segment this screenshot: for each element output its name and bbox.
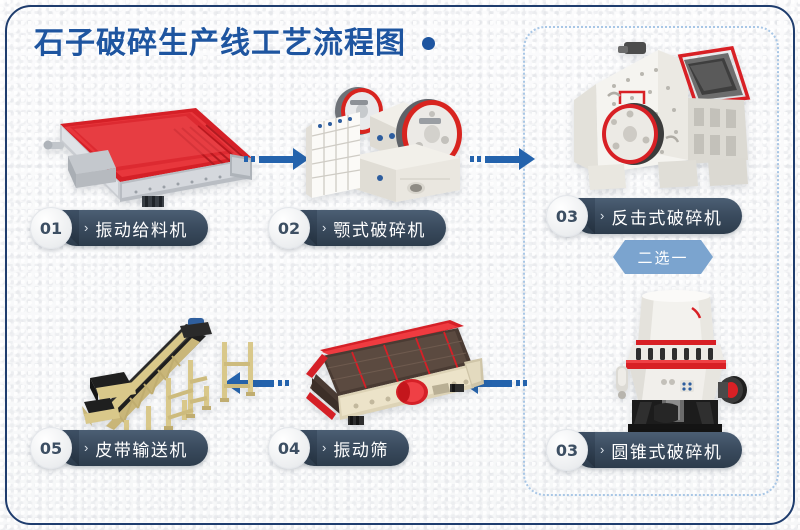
step-number-04: 04 (268, 427, 310, 469)
step-number-03-impact: 03 (546, 195, 588, 237)
arrow-feeder-to-jaw (244, 148, 309, 170)
step-name-cone-crusher: 圆锥式破碎机 (611, 438, 722, 463)
chevron-right-icon: › (600, 209, 604, 222)
step-label-vibrating-feeder: › 振动给料机 (58, 210, 208, 246)
step-name-vibrating-feeder: 振动给料机 (95, 216, 188, 241)
cone-crusher-image (592, 282, 762, 439)
step-badge-cone-crusher[interactable]: 03 › 圆锥式破碎机 (546, 430, 742, 470)
chevron-right-icon: › (84, 441, 88, 454)
step-number-01: 01 (30, 207, 72, 249)
step-label-belt-conveyor: › 皮带输送机 (58, 430, 208, 466)
step-name-belt-conveyor: 皮带输送机 (95, 436, 188, 461)
jaw-crusher-image (304, 78, 476, 209)
step-label-cone-crusher: › 圆锥式破碎机 (574, 432, 742, 468)
vibrating-screen-image (292, 312, 504, 435)
step-label-vibrating-screen: › 振动筛 (296, 430, 409, 466)
step-number-03-cone: 03 (546, 429, 588, 471)
flowchart-page: 石子破碎生产线工艺流程图 (0, 0, 800, 530)
step-label-jaw-crusher: › 颚式破碎机 (296, 210, 446, 246)
chevron-right-icon: › (600, 443, 604, 456)
impact-crusher-image (562, 42, 762, 203)
step-name-vibrating-screen: 振动筛 (333, 436, 389, 461)
step-number-02: 02 (268, 207, 310, 249)
arrow-jaw-to-impact (470, 148, 535, 170)
step-badge-vibrating-feeder[interactable]: 01 › 振动给料机 (30, 208, 208, 248)
blue-dot-icon (422, 37, 435, 50)
step-number-05: 05 (30, 427, 72, 469)
step-badge-vibrating-screen[interactable]: 04 › 振动筛 (268, 428, 409, 468)
step-badge-impact-crusher[interactable]: 03 › 反击式破碎机 (546, 196, 742, 236)
belt-conveyor-image (82, 302, 268, 441)
step-name-impact-crusher: 反击式破碎机 (611, 204, 722, 229)
step-name-jaw-crusher: 颚式破碎机 (333, 216, 426, 241)
choose-one-label: 二选一 (637, 247, 688, 268)
page-title: 石子破碎生产线工艺流程图 (34, 18, 435, 62)
choose-one-tag: 二选一 (613, 240, 713, 274)
chevron-right-icon: › (84, 221, 88, 234)
page-title-text: 石子破碎生产线工艺流程图 (34, 18, 406, 62)
vibrating-feeder-image (24, 96, 260, 213)
chevron-right-icon: › (322, 441, 326, 454)
step-badge-jaw-crusher[interactable]: 02 › 颚式破碎机 (268, 208, 446, 248)
step-badge-belt-conveyor[interactable]: 05 › 皮带输送机 (30, 428, 208, 468)
chevron-right-icon: › (322, 221, 326, 234)
step-label-impact-crusher: › 反击式破碎机 (574, 198, 742, 234)
